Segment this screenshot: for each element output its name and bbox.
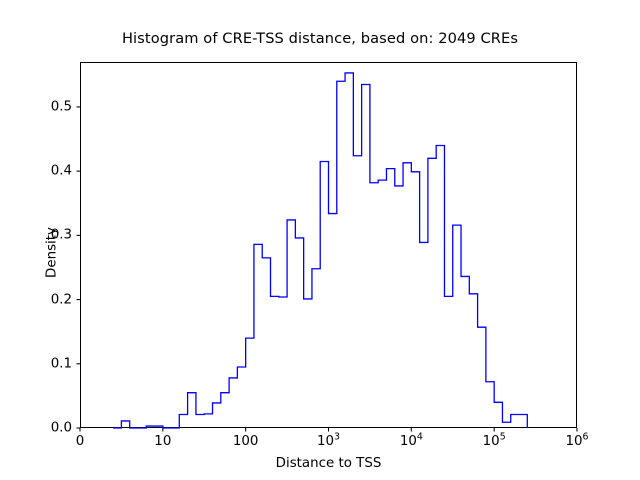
x-axis-label: Distance to TSS <box>80 456 577 471</box>
y-tick-label: 0.5 <box>20 99 72 114</box>
x-tick-label: 105 <box>483 434 506 449</box>
x-tick-label: 0 <box>76 434 85 449</box>
chart-svg <box>0 0 640 480</box>
x-tick-label: 103 <box>317 434 340 449</box>
figure-canvas: Histogram of CRE-TSS distance, based on:… <box>0 0 640 480</box>
histogram-step-line <box>113 73 527 428</box>
y-axis-ticks <box>77 107 81 428</box>
x-tick-label: 106 <box>565 434 588 449</box>
y-tick-label: 0.0 <box>20 421 72 436</box>
y-axis-label: Density <box>45 193 60 313</box>
y-tick-label: 0.1 <box>20 356 72 371</box>
y-tick-label: 0.4 <box>20 164 72 179</box>
x-tick-label: 100 <box>233 434 259 449</box>
x-tick-label: 104 <box>400 434 423 449</box>
x-tick-label: 10 <box>154 434 171 449</box>
